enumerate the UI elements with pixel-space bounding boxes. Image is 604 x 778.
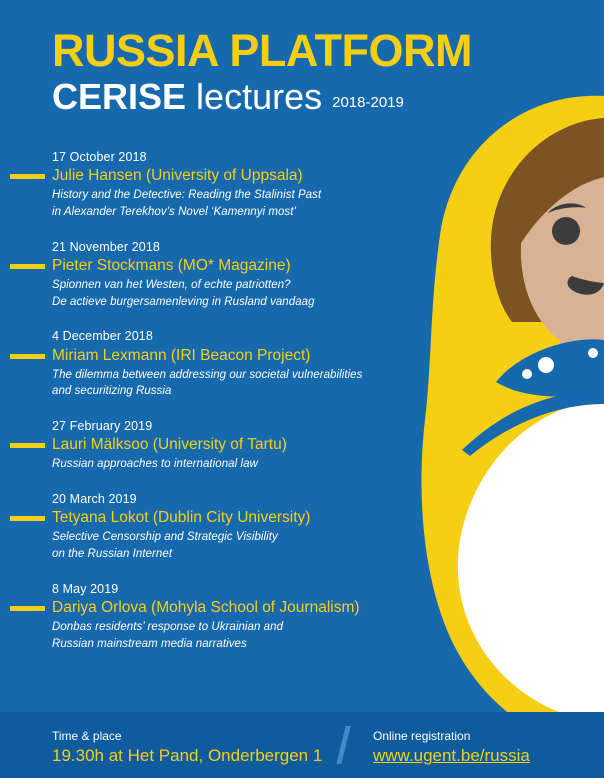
bullet-dash-icon [10, 606, 45, 611]
list-item: 27 February 2019 Lauri Mälksoo (Universi… [0, 417, 420, 473]
registration-label: Online registration [373, 728, 530, 745]
list-item: 17 October 2018 Julie Hansen (University… [0, 148, 420, 221]
doll-hair-fringe [491, 118, 604, 288]
list-item: 21 November 2018 Pieter Stockmans (MO* M… [0, 238, 420, 311]
lecture-speaker: Pieter Stockmans (MO* Magazine) [52, 256, 420, 276]
bullet-dash-icon [10, 264, 45, 269]
lecture-topic-line: Donbas residents’ response to Ukrainian … [52, 619, 420, 636]
lecture-topic-line: in Alexander Terekhov’s Novel ‘Kamennyi … [52, 204, 420, 221]
lecture-date: 8 May 2019 [52, 580, 420, 598]
bullet-dash-icon [10, 443, 45, 448]
time-place-label: Time & place [52, 728, 322, 745]
lecture-topic-line: Russian mainstream media narratives [52, 636, 420, 653]
lecture-speaker: Lauri Mälksoo (University of Tartu) [52, 435, 420, 455]
footer-time-place-block: Time & place 19.30h at Het Pand, Onderbe… [52, 728, 322, 767]
lecture-topic-line: Russian approaches to international law [52, 456, 420, 473]
doll-petal-dot [522, 369, 532, 379]
lecture-date: 17 October 2018 [52, 148, 420, 166]
lecture-date: 21 November 2018 [52, 238, 420, 256]
lecture-date: 20 March 2019 [52, 490, 420, 508]
lecture-topic-line: Selective Censorship and Strategic Visib… [52, 529, 420, 546]
registration-link[interactable]: www.ugent.be/russia [373, 745, 530, 767]
list-item: 20 March 2019 Tetyana Lokot (Dublin City… [0, 490, 420, 563]
lecture-topic-line: on the Russian Internet [52, 546, 420, 563]
poster-footer: Time & place 19.30h at Het Pand, Onderbe… [0, 712, 604, 778]
lecture-date: 27 February 2019 [52, 417, 420, 435]
doll-hair [491, 118, 604, 322]
speaker-row: Lauri Mälksoo (University of Tartu) [0, 435, 420, 456]
doll-eye [552, 217, 580, 245]
lecture-topic-line: De actieve burgersamenleving in Rusland … [52, 294, 420, 311]
lecture-topic-line: History and the Detective: Reading the S… [52, 187, 420, 204]
doll-petal-dot [538, 357, 554, 373]
lecture-topic-line: and securitizing Russia [52, 383, 420, 400]
time-place-value: 19.30h at Het Pand, Onderbergen 1 [52, 745, 322, 767]
speaker-row: Tetyana Lokot (Dublin City University) [0, 508, 420, 529]
footer-inner: Time & place 19.30h at Het Pand, Onderbe… [0, 712, 604, 778]
bullet-dash-icon [10, 174, 45, 179]
doll-apron [458, 400, 604, 723]
doll-eyebrow [548, 203, 586, 213]
subtitle-light: lectures [186, 76, 322, 117]
lecture-speaker: Dariya Orlova (Mohyla School of Journali… [52, 598, 420, 618]
footer-registration-block: Online registration www.ugent.be/russia [373, 728, 530, 767]
year-range: 2018-2019 [332, 94, 404, 115]
lecture-topic-line: The dilemma between addressing our socie… [52, 367, 420, 384]
doll-petal-decoration [496, 339, 604, 396]
lecture-speaker: Miriam Lexmann (IRI Beacon Project) [52, 346, 420, 366]
list-item: 8 May 2019 Dariya Orlova (Mohyla School … [0, 580, 420, 653]
poster-root: RUSSIA PLATFORM CERISE lectures 2018-201… [0, 0, 604, 778]
doll-sash [462, 392, 604, 456]
lecture-speaker: Tetyana Lokot (Dublin City University) [52, 508, 420, 528]
poster-header: RUSSIA PLATFORM CERISE lectures 2018-201… [52, 28, 472, 115]
lecture-list: 17 October 2018 Julie Hansen (University… [0, 148, 420, 669]
doll-face [521, 150, 604, 356]
speaker-row: Miriam Lexmann (IRI Beacon Project) [0, 346, 420, 367]
list-item: 4 December 2018 Miriam Lexmann (IRI Beac… [0, 327, 420, 400]
footer-divider [336, 726, 350, 764]
bullet-dash-icon [10, 516, 45, 521]
subtitle-bold: CERISE [52, 76, 186, 117]
lecture-date: 4 December 2018 [52, 327, 420, 345]
speaker-row: Dariya Orlova (Mohyla School of Journali… [0, 598, 420, 619]
doll-scarf-outer [422, 96, 604, 758]
speaker-row: Pieter Stockmans (MO* Magazine) [0, 256, 420, 277]
page-subtitle: CERISE lectures [52, 79, 322, 115]
lecture-topic-line: Spionnen van het Westen, of echte patrio… [52, 277, 420, 294]
speaker-row: Julie Hansen (University of Uppsala) [0, 166, 420, 187]
bullet-dash-icon [10, 354, 45, 359]
subtitle-row: CERISE lectures 2018-2019 [52, 79, 472, 115]
doll-petal-dot [588, 348, 598, 358]
lecture-speaker: Julie Hansen (University of Uppsala) [52, 166, 420, 186]
doll-smile [568, 276, 604, 295]
page-title: RUSSIA PLATFORM [52, 28, 472, 73]
